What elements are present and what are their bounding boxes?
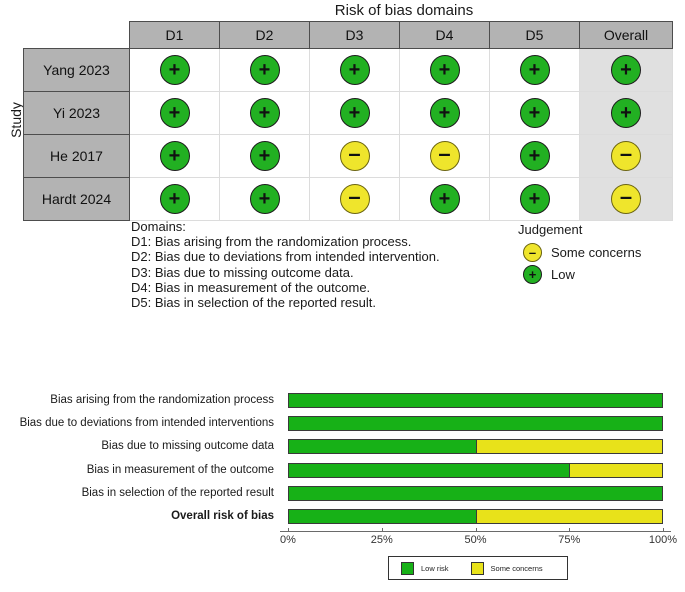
low-risk-icon: + [523, 265, 542, 284]
study-label-cell: Yi 2023 [24, 92, 130, 135]
bar-row: Bias due to deviations from intended int… [0, 414, 685, 433]
some-concerns-icon: – [523, 243, 542, 262]
bar-track [288, 416, 663, 431]
bar-track [288, 509, 663, 524]
judgement-cell-overall: + [580, 92, 673, 135]
low-risk-icon: + [160, 55, 190, 85]
bar-segment-low-risk [289, 394, 662, 407]
bar-segment-low-risk [289, 417, 662, 430]
judgement-cell-d4: + [400, 49, 490, 92]
bar-segment-some-concerns [570, 464, 662, 477]
x-axis-tick-label: 50% [464, 534, 486, 546]
bar-row: Bias due to missing outcome data [0, 437, 685, 456]
table-header-row: D1 D2 D3 D4 D5 Overall [24, 22, 673, 49]
column-header-d3: D3 [310, 22, 400, 49]
low-risk-icon: + [250, 55, 280, 85]
minus-glyph: – [341, 183, 369, 211]
judgement-cell-d2: + [220, 92, 310, 135]
judgement-cell-d5: + [490, 92, 580, 135]
x-axis-tick-label: 0% [280, 534, 296, 546]
judgement-legend-label-some-concerns: Some concerns [551, 245, 641, 260]
plus-glyph: + [341, 56, 369, 84]
some-concerns-icon: – [611, 184, 641, 214]
bar-category-label: Bias in measurement of the outcome [0, 461, 274, 480]
study-label-cell: He 2017 [24, 135, 130, 178]
low-risk-icon: + [611, 98, 641, 128]
judgement-cell-d3: + [310, 49, 400, 92]
table-body: Yang 2023++++++Yi 2023++++++He 2017++––+… [24, 49, 673, 221]
plus-glyph: + [521, 142, 549, 170]
minus-glyph: – [341, 140, 369, 168]
judgement-cell-d2: + [220, 49, 310, 92]
low-risk-icon: + [160, 141, 190, 171]
judgement-cell-d5: + [490, 135, 580, 178]
judgement-cell-d3: – [310, 135, 400, 178]
low-risk-swatch-icon [401, 562, 414, 575]
judgement-cell-d4: + [400, 178, 490, 221]
plus-glyph: + [341, 99, 369, 127]
bar-row: Overall risk of bias [0, 507, 685, 526]
low-risk-icon: + [250, 141, 280, 171]
study-axis-label: Study [8, 90, 24, 150]
minus-glyph: – [612, 140, 640, 168]
plus-glyph: + [161, 99, 189, 127]
legend-label-low-risk: Low risk [421, 564, 449, 573]
x-axis-tick [382, 528, 383, 532]
study-label-cell: Hardt 2024 [24, 178, 130, 221]
x-axis-tick [288, 528, 289, 532]
x-axis-tick [476, 528, 477, 532]
header-corner-blank [24, 22, 130, 49]
domain-description-d1: D1: Bias arising from the randomization … [131, 234, 440, 249]
judgement-cell-d3: + [310, 92, 400, 135]
bar-track [288, 439, 663, 454]
judgement-cell-overall: – [580, 178, 673, 221]
bar-category-label: Bias due to missing outcome data [0, 437, 274, 456]
plus-glyph: + [431, 56, 459, 84]
table-row: Yi 2023++++++ [24, 92, 673, 135]
plus-glyph: + [521, 185, 549, 213]
domains-legend: Domains: D1: Bias arising from the rando… [131, 219, 440, 310]
bar-segment-low-risk [289, 464, 569, 477]
low-risk-icon: + [250, 98, 280, 128]
legend-item-some-concerns: Some concerns [471, 562, 543, 575]
x-axis-tick-label: 100% [649, 534, 677, 546]
plus-glyph: + [521, 99, 549, 127]
low-risk-icon: + [430, 98, 460, 128]
domain-description-d3: D3: Bias due to missing outcome data. [131, 265, 440, 280]
x-axis-tick-label: 25% [371, 534, 393, 546]
judgement-cell-d1: + [130, 135, 220, 178]
judgement-cell-d1: + [130, 178, 220, 221]
bar-segment-low-risk [289, 440, 476, 453]
table-header: D1 D2 D3 D4 D5 Overall [24, 22, 673, 49]
low-risk-icon: + [520, 55, 550, 85]
low-risk-icon: + [160, 184, 190, 214]
judgement-legend-item-some-concerns: – Some concerns [518, 241, 641, 263]
judgement-cell-d2: + [220, 135, 310, 178]
low-risk-icon: + [430, 55, 460, 85]
domain-description-d5: D5: Bias in selection of the reported re… [131, 295, 440, 310]
some-concerns-icon: – [611, 141, 641, 171]
judgement-cell-d1: + [130, 49, 220, 92]
table-row: Hardt 2024++–++– [24, 178, 673, 221]
bar-segment-low-risk [289, 487, 662, 500]
x-axis-tick [569, 528, 570, 532]
domain-description-d4: D4: Bias in measurement of the outcome. [131, 280, 440, 295]
bar-category-label: Bias due to deviations from intended int… [0, 414, 274, 433]
column-header-overall: Overall [580, 22, 673, 49]
judgement-cell-d2: + [220, 178, 310, 221]
column-header-d4: D4 [400, 22, 490, 49]
judgement-cell-d5: + [490, 178, 580, 221]
bar-row: Bias in measurement of the outcome [0, 461, 685, 480]
plus-glyph: + [612, 56, 640, 84]
plus-glyph: + [161, 142, 189, 170]
legend-label-some-concerns: Some concerns [491, 564, 543, 573]
minus-glyph: – [612, 183, 640, 211]
domain-description-d2: D2: Bias due to deviations from intended… [131, 249, 440, 264]
bar-track [288, 463, 663, 478]
x-axis-tick [663, 528, 664, 532]
column-header-d5: D5 [490, 22, 580, 49]
plus-glyph: + [431, 99, 459, 127]
domains-heading: Domains: [131, 219, 440, 234]
judgement-cell-d4: – [400, 135, 490, 178]
judgement-cell-overall: + [580, 49, 673, 92]
judgement-cell-overall: – [580, 135, 673, 178]
bar-category-label: Overall risk of bias [0, 507, 274, 526]
minus-glyph: – [431, 140, 459, 168]
plus-glyph: + [251, 142, 279, 170]
legend-item-low-risk: Low risk [401, 562, 449, 575]
plus-glyph: + [161, 185, 189, 213]
plus-glyph: + [251, 56, 279, 84]
low-risk-icon: + [250, 184, 280, 214]
low-risk-icon: + [430, 184, 460, 214]
risk-of-bias-table: D1 D2 D3 D4 D5 Overall Yang 2023++++++Yi… [23, 21, 673, 221]
bar-category-label: Bias in selection of the reported result [0, 484, 274, 503]
weighted-bar-chart: Bias arising from the randomization proc… [0, 380, 685, 592]
low-risk-icon: + [611, 55, 641, 85]
bar-segment-some-concerns [477, 510, 663, 523]
traffic-light-title: Risk of bias domains [128, 2, 680, 19]
low-risk-icon: + [520, 184, 550, 214]
column-header-d2: D2 [220, 22, 310, 49]
some-concerns-icon: – [340, 141, 370, 171]
bar-segment-low-risk [289, 510, 476, 523]
low-risk-icon: + [520, 98, 550, 128]
low-risk-icon: + [340, 55, 370, 85]
plus-glyph: + [161, 56, 189, 84]
some-concerns-icon: – [430, 141, 460, 171]
low-risk-icon: + [520, 141, 550, 171]
bar-segment-some-concerns [477, 440, 663, 453]
low-risk-icon: + [160, 98, 190, 128]
minus-glyph: – [524, 244, 541, 261]
bar-chart-legend: Low risk Some concerns [388, 556, 568, 580]
table-row: Yang 2023++++++ [24, 49, 673, 92]
plus-glyph: + [612, 99, 640, 127]
column-header-d1: D1 [130, 22, 220, 49]
bar-row: Bias arising from the randomization proc… [0, 391, 685, 410]
judgement-legend-title: Judgement [518, 222, 641, 237]
bar-track [288, 486, 663, 501]
study-label-cell: Yang 2023 [24, 49, 130, 92]
x-axis-tick-label: 75% [558, 534, 580, 546]
low-risk-icon: + [340, 98, 370, 128]
judgement-legend-item-low: + Low [518, 263, 641, 285]
bar-category-label: Bias arising from the randomization proc… [0, 391, 274, 410]
judgement-cell-d4: + [400, 92, 490, 135]
plus-glyph: + [524, 266, 541, 283]
plus-glyph: + [431, 185, 459, 213]
table-row: He 2017++––+– [24, 135, 673, 178]
judgement-cell-d1: + [130, 92, 220, 135]
bar-row: Bias in selection of the reported result [0, 484, 685, 503]
some-concerns-swatch-icon [471, 562, 484, 575]
judgement-cell-d3: – [310, 178, 400, 221]
plus-glyph: + [521, 56, 549, 84]
plus-glyph: + [251, 99, 279, 127]
judgement-cell-d5: + [490, 49, 580, 92]
bar-track [288, 393, 663, 408]
judgement-legend: Judgement – Some concerns + Low [518, 222, 641, 285]
judgement-legend-label-low: Low [551, 267, 575, 282]
plus-glyph: + [251, 185, 279, 213]
some-concerns-icon: – [340, 184, 370, 214]
